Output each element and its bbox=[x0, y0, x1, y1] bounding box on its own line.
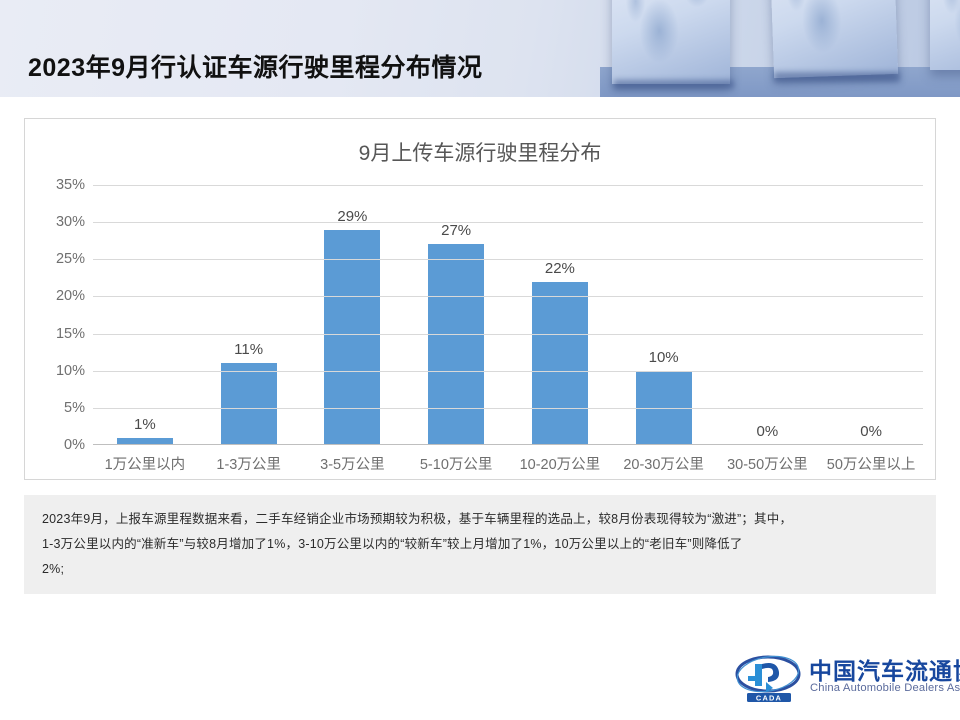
bar-value-label: 22% bbox=[508, 260, 612, 277]
bar[interactable] bbox=[532, 282, 588, 445]
note-line: 2023年9月，上报车源里程数据来看，二手车经销企业市场预期较为积极，基于车辆里… bbox=[42, 507, 920, 532]
y-axis-tick: 20% bbox=[56, 288, 85, 304]
y-axis: 35%30%25%20%15%10%5%0% bbox=[25, 185, 93, 445]
header-decoration-cubes bbox=[600, 0, 960, 97]
x-axis-tick: 30-50万公里 bbox=[716, 453, 820, 474]
gridline bbox=[93, 185, 923, 186]
bar[interactable] bbox=[324, 230, 380, 445]
y-axis-tick: 25% bbox=[56, 251, 85, 267]
gridline bbox=[93, 334, 923, 335]
bar-value-label: 0% bbox=[716, 423, 820, 440]
y-axis-tick: 35% bbox=[56, 177, 85, 193]
decoration-cube-1-shadow bbox=[614, 80, 734, 89]
bar-slot: 27% bbox=[404, 185, 508, 445]
chart-plot-wrapper: 35%30%25%20%15%10%5%0% 1%11%29%27%22%10%… bbox=[25, 185, 937, 481]
world-map-texture bbox=[770, 0, 898, 78]
x-axis-tick: 20-30万公里 bbox=[612, 453, 716, 474]
x-axis: 1万公里以内1-3万公里3-5万公里5-10万公里10-20万公里20-30万公… bbox=[93, 453, 923, 474]
gridline bbox=[93, 371, 923, 372]
bar-value-label: 10% bbox=[612, 349, 716, 366]
plot-area: 1%11%29%27%22%10%0%0% bbox=[93, 185, 923, 445]
logo-chinese-name: 中国汽车流通协会 bbox=[809, 652, 960, 686]
x-axis-tick: 10-20万公里 bbox=[508, 453, 612, 474]
bar-value-label: 0% bbox=[819, 423, 923, 440]
chart-panel: 9月上传车源行驶里程分布 35%30%25%20%15%10%5%0% 1%11… bbox=[24, 118, 936, 480]
x-axis-tick: 3-5万公里 bbox=[301, 453, 405, 474]
note-box: 2023年9月，上报车源里程数据来看，二手车经销企业市场预期较为积极，基于车辆里… bbox=[24, 495, 936, 594]
decoration-cube-1 bbox=[612, 0, 730, 84]
bar-slot: 1% bbox=[93, 185, 197, 445]
bar-value-label: 11% bbox=[197, 341, 301, 358]
bar-series: 1%11%29%27%22%10%0%0% bbox=[93, 185, 923, 445]
world-map-texture bbox=[930, 0, 960, 70]
header-band: 2023年9月行认证车源行驶里程分布情况 bbox=[0, 0, 960, 97]
y-axis-tick: 5% bbox=[64, 400, 85, 416]
note-line: 1-3万公里以内的“准新车”与较8月增加了1%，3-10万公里以内的“较新车”较… bbox=[42, 532, 920, 557]
x-axis-tick: 5-10万公里 bbox=[404, 453, 508, 474]
bar-slot: 29% bbox=[301, 185, 405, 445]
x-axis-tick: 1万公里以内 bbox=[93, 453, 197, 474]
logo-english-name: China Automobile Dealers Association bbox=[810, 682, 960, 694]
x-axis-tick: 1-3万公里 bbox=[197, 453, 301, 474]
bar[interactable] bbox=[221, 363, 277, 445]
gridline bbox=[93, 222, 923, 223]
x-axis-tick: 50万公里以上 bbox=[819, 453, 923, 474]
gridline bbox=[93, 259, 923, 260]
decoration-cube-2-shadow bbox=[774, 72, 900, 82]
chart-title: 9月上传车源行驶里程分布 bbox=[25, 137, 935, 167]
bar-slot: 0% bbox=[819, 185, 923, 445]
decoration-cube-3 bbox=[930, 0, 960, 70]
decoration-cube-2 bbox=[770, 0, 898, 78]
bar-value-label: 27% bbox=[404, 222, 508, 239]
axis-baseline bbox=[93, 444, 923, 445]
y-axis-tick: 0% bbox=[64, 437, 85, 453]
bar-slot: 10% bbox=[612, 185, 716, 445]
bar-slot: 0% bbox=[716, 185, 820, 445]
cada-emblem-icon: CADA bbox=[735, 652, 801, 704]
y-axis-tick: 10% bbox=[56, 363, 85, 379]
note-line: 2%; bbox=[42, 557, 920, 582]
gridline bbox=[93, 408, 923, 409]
bar-slot: 11% bbox=[197, 185, 301, 445]
y-axis-tick: 15% bbox=[56, 326, 85, 342]
world-map-texture bbox=[612, 0, 730, 84]
bar-slot: 22% bbox=[508, 185, 612, 445]
bar[interactable] bbox=[428, 244, 484, 445]
y-axis-tick: 30% bbox=[56, 214, 85, 230]
gridline bbox=[93, 296, 923, 297]
page-title: 2023年9月行认证车源行驶里程分布情况 bbox=[28, 48, 483, 84]
footer-logo: CADA 中国汽车流通协会 China Automobile Dealers A… bbox=[735, 648, 950, 710]
svg-text:CADA: CADA bbox=[756, 693, 782, 702]
bar-value-label: 1% bbox=[93, 416, 197, 433]
